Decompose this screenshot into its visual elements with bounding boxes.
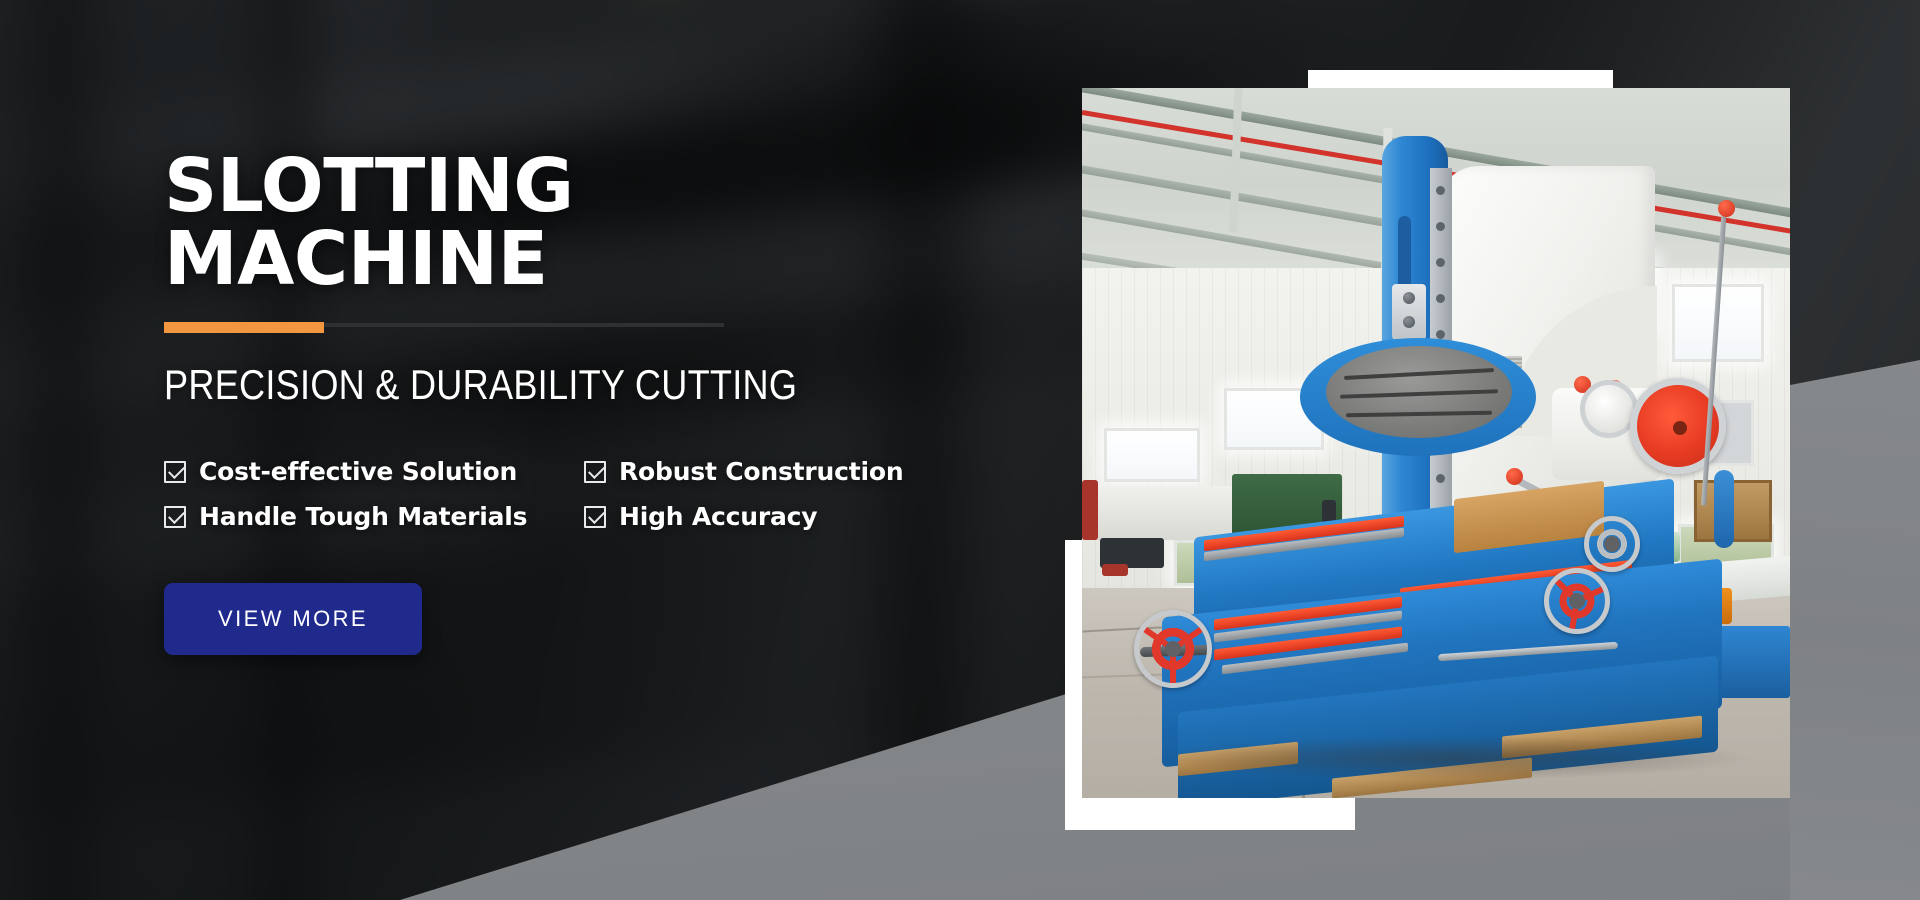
product-photo-block [1060,60,1860,850]
view-more-button[interactable]: VIEW MORE [164,583,422,655]
photo-background-machine [1090,486,1252,540]
feature-label: Robust Construction [619,457,903,486]
checkbox-checked-icon [164,506,186,528]
product-photo [1082,88,1790,798]
machine-column-clamp [1392,284,1426,340]
feature-item: Handle Tough Materials [164,502,584,531]
checkbox-checked-icon [584,506,606,528]
feature-item: High Accuracy [584,502,944,531]
feature-label: Cost-effective Solution [199,457,517,486]
feature-item: Cost-effective Solution [164,457,584,486]
divider [164,323,724,327]
hero-content: SLOTTING MACHINE PRECISION & DURABILITY … [164,150,984,655]
feature-label: Handle Tough Materials [199,502,527,531]
divider-accent [164,322,324,333]
machine-lever-knob [1506,468,1523,485]
hero-banner: SLOTTING MACHINE PRECISION & DURABILITY … [0,0,1920,900]
machine-rod-knob [1718,200,1735,217]
machine-rod-handle [1714,470,1734,548]
page-title: SLOTTING MACHINE [164,150,984,295]
feature-label: High Accuracy [619,502,817,531]
subtitle: PRECISION & DURABILITY CUTTING [164,361,869,409]
photo-window [1104,428,1200,482]
machine-handwheel-right [1544,568,1610,634]
machine-handwheel-upper [1584,516,1640,572]
machine-handwheel-left [1134,610,1212,688]
headline-line-2: MACHINE [164,223,984,296]
feature-list: Cost-effective Solution Robust Construct… [164,457,944,531]
photo-background-machine [1082,480,1098,540]
feature-item: Robust Construction [584,457,944,486]
photo-background-machine [1102,564,1128,576]
machine-floor-shadow [1152,736,1752,780]
machine-rotary-table [1326,346,1512,438]
checkbox-checked-icon [164,461,186,483]
checkbox-checked-icon [584,461,606,483]
view-more-button-label: VIEW MORE [218,606,368,632]
